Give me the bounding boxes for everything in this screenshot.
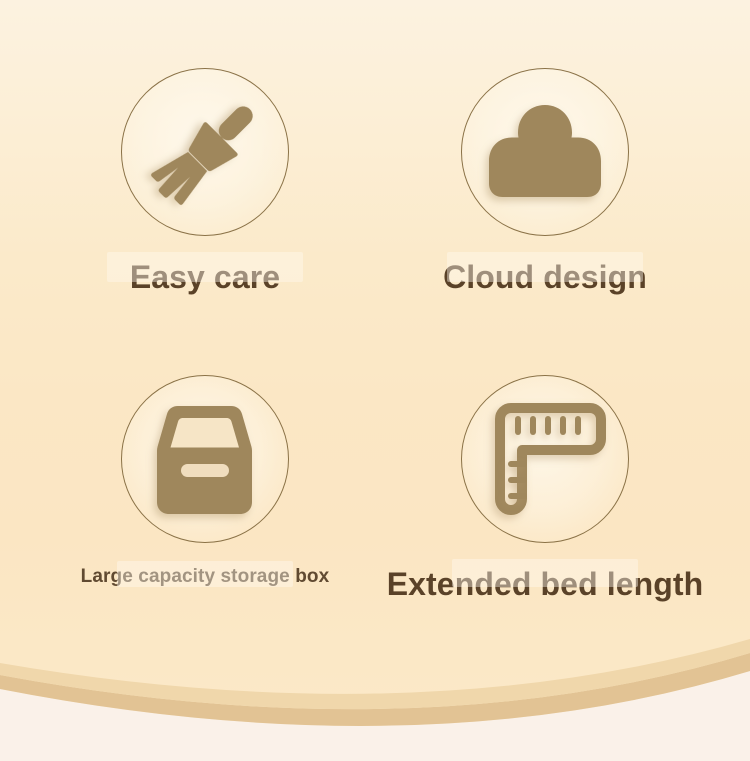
- feature-item-easy-care: Easy care: [35, 68, 375, 297]
- label-wrap-bed-length: Extended bed length: [375, 543, 715, 604]
- label-wrap-cloud-design: Cloud design: [375, 236, 715, 297]
- feature-label-bed-length: Extended bed length: [377, 565, 714, 604]
- broom-icon: [141, 88, 269, 216]
- icon-ring-bed-length: [461, 375, 629, 543]
- storage-box-icon: [154, 402, 256, 516]
- feature-label-cloud-design: Cloud design: [433, 258, 657, 297]
- icon-ring-storage-box: [121, 375, 289, 543]
- cloud-icon: [483, 97, 607, 207]
- icon-ring-easy-care: [121, 68, 289, 236]
- feature-grid: Easy care: [0, 0, 750, 680]
- feature-item-storage-box: Large capacity storage box: [35, 375, 375, 590]
- icon-ring-cloud-design: [461, 68, 629, 236]
- feature-item-cloud-design: Cloud design: [375, 68, 715, 297]
- ruler-icon: [489, 402, 601, 516]
- label-wrap-storage-box: Large capacity storage box: [35, 543, 375, 590]
- feature-highlights-panel: Easy care: [0, 0, 750, 761]
- wave-base: [0, 671, 750, 761]
- feature-label-storage-box: Large capacity storage box: [71, 565, 340, 590]
- label-wrap-easy-care: Easy care: [35, 236, 375, 297]
- feature-label-easy-care: Easy care: [120, 258, 290, 297]
- feature-item-bed-length: Extended bed length: [375, 375, 715, 604]
